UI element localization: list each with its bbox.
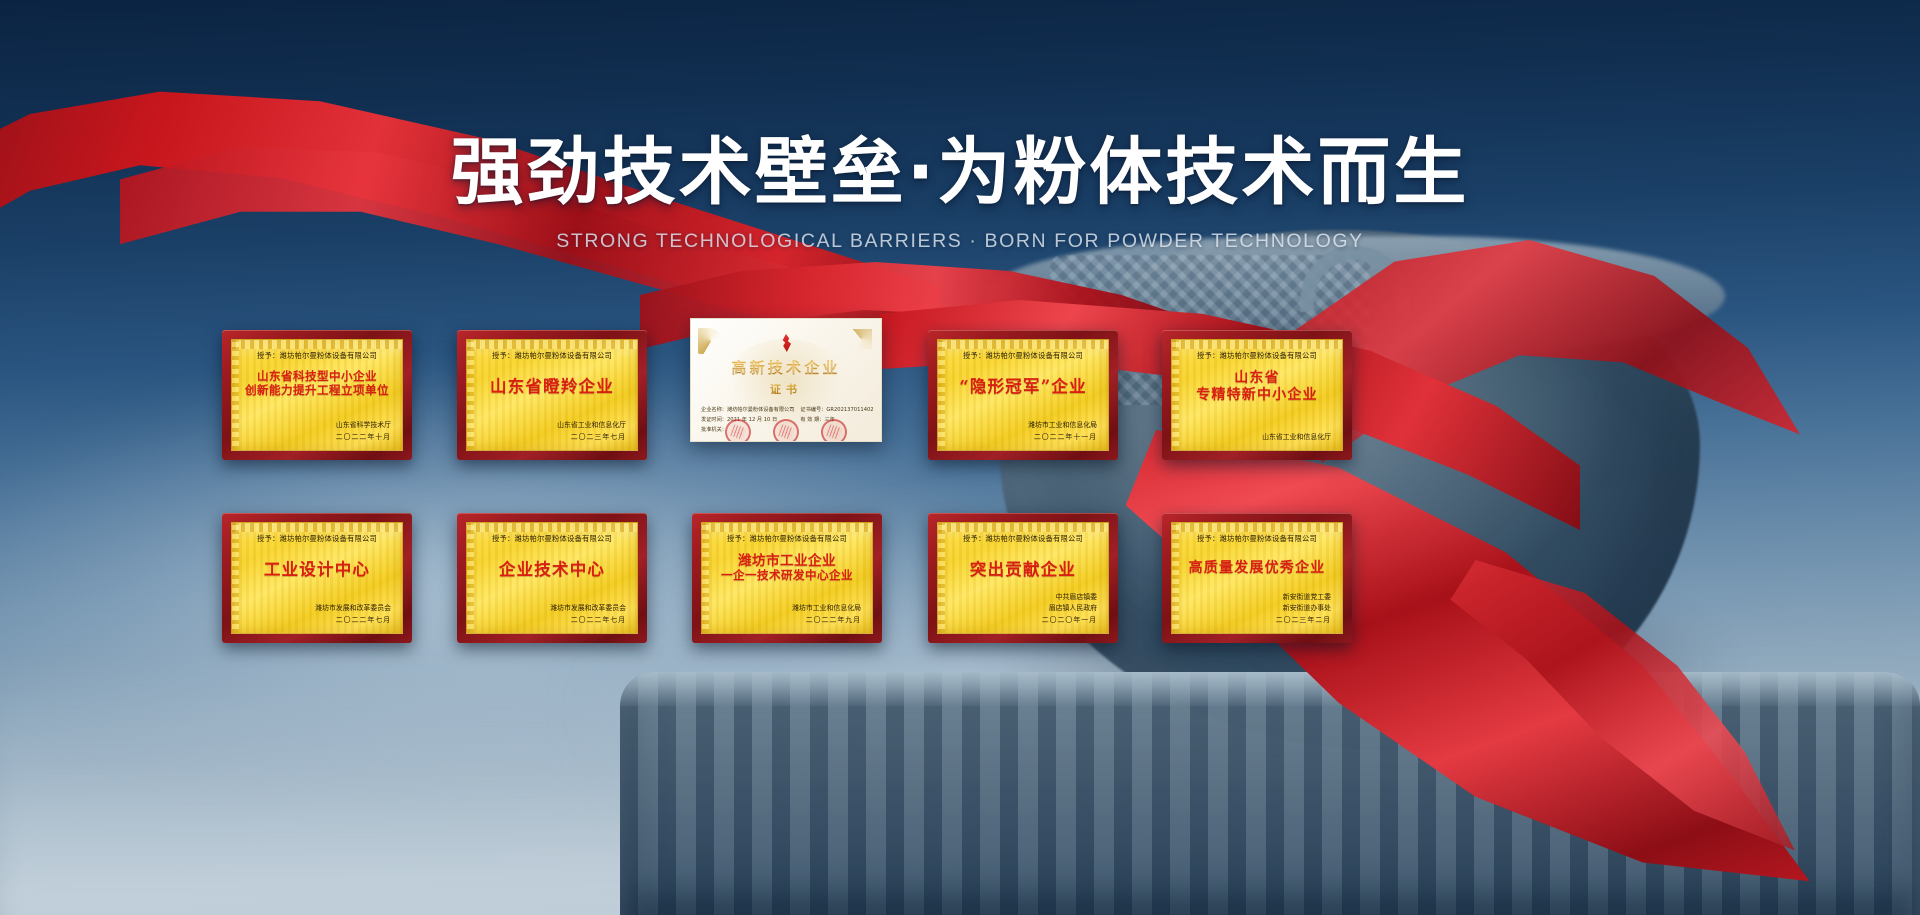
bronze-ding-base — [620, 672, 1920, 915]
high-tech-enterprise-certificate[interactable]: 高新技术企业 证书 企业名称：潍坊帕尔曼粉体设备有限公司 发证时间：2021 年… — [690, 318, 882, 442]
plaque-title: 山东省 专精特新中小企业 — [1182, 370, 1332, 403]
award-plaque-yinxingguanjun[interactable]: 授予：潍坊帕尔曼粉体设备有限公司 “隐形冠军”企业 潍坊市工业和信息化局 二〇二… — [928, 330, 1118, 460]
plaque-title: 高质量发展优秀企业 — [1182, 560, 1332, 577]
plaque-face: 授予：潍坊帕尔曼粉体设备有限公司 山东省 专精特新中小企业 山东省工业和信息化厅 — [1171, 339, 1343, 451]
award-plaque-zhuanjingtexin[interactable]: 授予：潍坊帕尔曼粉体设备有限公司 山东省 专精特新中小企业 山东省工业和信息化厅 — [1162, 330, 1352, 460]
award-plaque-gaozhiliang[interactable]: 授予：潍坊帕尔曼粉体设备有限公司 高质量发展优秀企业 新安街道党工委 新安街道办… — [1162, 513, 1352, 643]
award-plaque-gongyesheji[interactable]: 授予：潍坊帕尔曼粉体设备有限公司 工业设计中心 潍坊市发展和改革委员会 二〇二二… — [222, 513, 412, 643]
plaque-grantee: 授予：潍坊帕尔曼粉体设备有限公司 — [242, 351, 392, 361]
plaque-grantee: 授予：潍坊帕尔曼粉体设备有限公司 — [948, 351, 1098, 361]
plaque-face: 授予：潍坊帕尔曼粉体设备有限公司 山东省科技型中小企业 创新能力提升工程立项单位… — [231, 339, 403, 451]
official-seal-icon — [773, 419, 799, 442]
page-title: 强劲技术壁垒·为粉体技术而生 — [0, 132, 1920, 214]
plaque-footer: 中共眉店镇委 眉店镇人民政府 二〇二〇年一月 — [1042, 592, 1097, 626]
plaque-title: “隐形冠军”企业 — [948, 377, 1098, 396]
plaque-face: 授予：潍坊帕尔曼粉体设备有限公司 “隐形冠军”企业 潍坊市工业和信息化局 二〇二… — [937, 339, 1109, 451]
plaque-footer: 新安街道党工委 新安街道办事处 二〇二三年二月 — [1276, 592, 1331, 626]
certificate-title: 高新技术企业 — [701, 357, 871, 378]
plaque-footer: 潍坊市发展和改革委员会 二〇二二年七月 — [315, 603, 391, 626]
award-plaque-yiqiyijishu[interactable]: 授予：潍坊帕尔曼粉体设备有限公司 潍坊市工业企业 一企一技术研发中心企业 潍坊市… — [692, 513, 882, 643]
plaque-title: 山东省瞪羚企业 — [477, 377, 627, 396]
plaque-face: 授予：潍坊帕尔曼粉体设备有限公司 突出贡献企业 中共眉店镇委 眉店镇人民政府 二… — [937, 522, 1109, 634]
plaque-grantee: 授予：潍坊帕尔曼粉体设备有限公司 — [1182, 534, 1332, 544]
plaque-title: 山东省科技型中小企业 创新能力提升工程立项单位 — [242, 370, 392, 397]
plaque-grantee: 授予：潍坊帕尔曼粉体设备有限公司 — [477, 351, 627, 361]
certificate-corner-ornament-right-icon — [850, 329, 872, 349]
award-plaque-qiyejishu[interactable]: 授予：潍坊帕尔曼粉体设备有限公司 企业技术中心 潍坊市发展和改革委员会 二〇二二… — [457, 513, 647, 643]
plaque-face: 授予：潍坊帕尔曼粉体设备有限公司 企业技术中心 潍坊市发展和改革委员会 二〇二二… — [466, 522, 638, 634]
hero-banner: 强劲技术壁垒·为粉体技术而生 STRONG TECHNOLOGICAL BARR… — [0, 0, 1920, 915]
page-subtitle: STRONG TECHNOLOGICAL BARRIERS · BORN FOR… — [0, 230, 1920, 253]
plaque-grantee: 授予：潍坊帕尔曼粉体设备有限公司 — [712, 534, 862, 544]
plaque-footer: 潍坊市工业和信息化局 二〇二二年九月 — [792, 603, 861, 626]
plaque-footer: 山东省工业和信息化厅 — [1262, 432, 1331, 443]
plaque-footer: 潍坊市发展和改革委员会 二〇二二年七月 — [550, 603, 626, 626]
plaque-face: 授予：潍坊帕尔曼粉体设备有限公司 工业设计中心 潍坊市发展和改革委员会 二〇二二… — [231, 522, 403, 634]
plaque-grantee: 授予：潍坊帕尔曼粉体设备有限公司 — [242, 534, 392, 544]
plaque-face: 授予：潍坊帕尔曼粉体设备有限公司 高质量发展优秀企业 新安街道党工委 新安街道办… — [1171, 522, 1343, 634]
plaque-title: 突出贡献企业 — [948, 560, 1098, 579]
plaque-face: 授予：潍坊帕尔曼粉体设备有限公司 山东省瞪羚企业 山东省工业和信息化厅 二〇二三… — [466, 339, 638, 451]
plaque-face: 授予：潍坊帕尔曼粉体设备有限公司 潍坊市工业企业 一企一技术研发中心企业 潍坊市… — [701, 522, 873, 634]
certificate-subtitle: 证书 — [701, 381, 871, 397]
plaque-title: 潍坊市工业企业 一企一技术研发中心企业 — [712, 553, 862, 583]
award-plaque-denglingqiye[interactable]: 授予：潍坊帕尔曼粉体设备有限公司 山东省瞪羚企业 山东省工业和信息化厅 二〇二三… — [457, 330, 647, 460]
plaque-title: 工业设计中心 — [242, 560, 392, 579]
awards-row-1: 授予：潍坊帕尔曼粉体设备有限公司 山东省科技型中小企业 创新能力提升工程立项单位… — [0, 330, 1920, 480]
awards-row-2: 授予：潍坊帕尔曼粉体设备有限公司 工业设计中心 潍坊市发展和改革委员会 二〇二二… — [0, 513, 1920, 663]
award-plaque-kejixing[interactable]: 授予：潍坊帕尔曼粉体设备有限公司 山东省科技型中小企业 创新能力提升工程立项单位… — [222, 330, 412, 460]
hero-headline: 强劲技术壁垒·为粉体技术而生 STRONG TECHNOLOGICAL BARR… — [0, 132, 1920, 253]
certificate-corner-ornament-icon — [698, 328, 724, 354]
award-plaque-tuchugongxian[interactable]: 授予：潍坊帕尔曼粉体设备有限公司 突出贡献企业 中共眉店镇委 眉店镇人民政府 二… — [928, 513, 1118, 643]
plaque-title: 企业技术中心 — [477, 560, 627, 579]
plaque-grantee: 授予：潍坊帕尔曼粉体设备有限公司 — [477, 534, 627, 544]
plaque-grantee: 授予：潍坊帕尔曼粉体设备有限公司 — [1182, 351, 1332, 361]
plaque-footer: 潍坊市工业和信息化局 二〇二二年十一月 — [1028, 420, 1097, 443]
certificate-seals — [691, 419, 881, 442]
awards-gallery: 授予：潍坊帕尔曼粉体设备有限公司 山东省科技型中小企业 创新能力提升工程立项单位… — [0, 330, 1920, 663]
plaque-footer: 山东省科学技术厅 二〇二二年十月 — [336, 420, 391, 443]
plaque-grantee: 授予：潍坊帕尔曼粉体设备有限公司 — [948, 534, 1098, 544]
plaque-footer: 山东省工业和信息化厅 二〇二三年七月 — [557, 420, 626, 443]
official-seal-icon — [725, 419, 751, 442]
official-seal-icon — [821, 419, 847, 442]
